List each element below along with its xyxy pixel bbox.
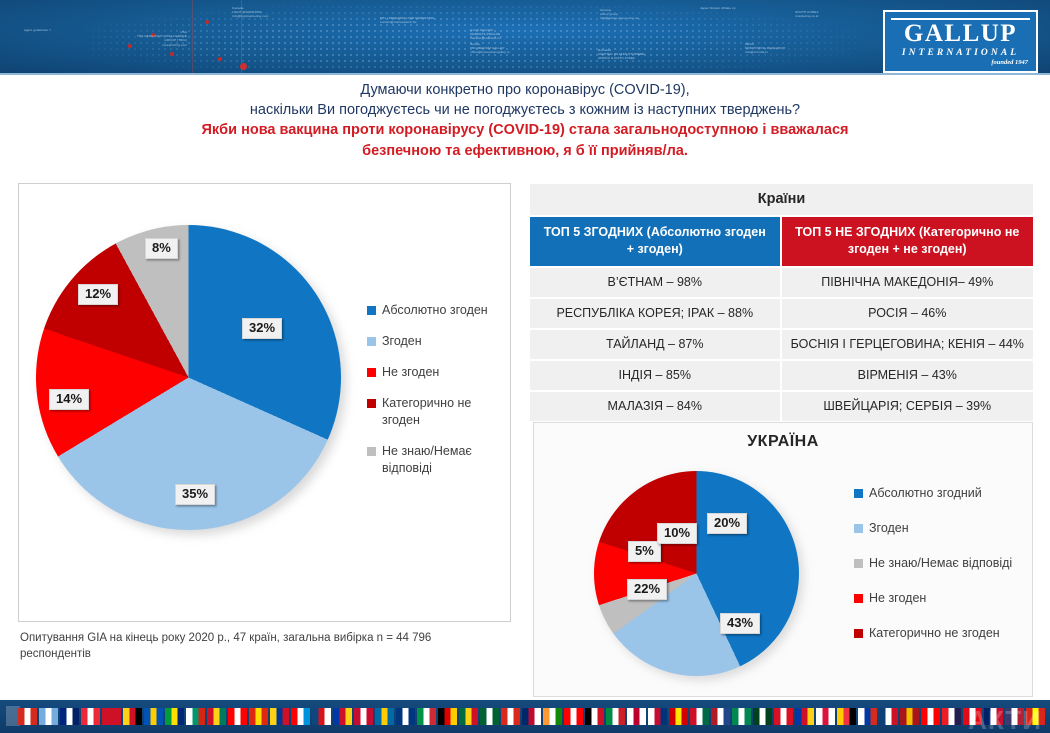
- table-header-agree: ТОП 5 ЗГОДНИХ (Абсолютно згоден + згоден…: [530, 217, 782, 266]
- flag-icon: [837, 708, 856, 725]
- table-cell: РОСІЯ – 46%: [782, 299, 1034, 328]
- table-cell: РЕСПУБЛІКА КОРЕЯ; ІРАК – 88%: [530, 299, 782, 328]
- ua-pie-label-disagree: 10%: [657, 523, 697, 544]
- legend-item[interactable]: Не знаю/Немає відповіді: [854, 555, 1024, 572]
- legend-item[interactable]: Абсолютно згоден: [367, 302, 502, 319]
- flag-icon: [18, 708, 37, 725]
- table-row: РЕСПУБЛІКА КОРЕЯ; ІРАК – 88%РОСІЯ – 46%: [530, 297, 1033, 328]
- ukraine-panel-title: УКРАЇНА: [534, 423, 1032, 451]
- table-cell: ШВЕЙЦАРІЯ; СЕРБІЯ – 39%: [782, 392, 1034, 421]
- flag-icon: [144, 708, 163, 725]
- flag-icon: [186, 708, 205, 725]
- pie-label-agree: 35%: [175, 484, 215, 505]
- legend-item[interactable]: Не згоден: [854, 590, 1024, 607]
- table-cell: БОСНІЯ І ГЕРЦЕГОВИНА; КЕНІЯ – 44%: [782, 330, 1034, 359]
- legend-item[interactable]: Категорично не згоден: [367, 395, 502, 429]
- flag-icon: [564, 708, 583, 725]
- legend-item[interactable]: Не згоден: [367, 364, 502, 381]
- banner-micro-label: Czech Republic MARKETS PRAGUE markets@ma…: [470, 28, 501, 41]
- legend-swatch-icon: [367, 306, 376, 315]
- flag-icon: [900, 708, 919, 725]
- table-row: ІНДІЯ – 85%ВІРМЕНІЯ – 43%: [530, 359, 1033, 390]
- legend-swatch-icon: [854, 489, 863, 498]
- logo-wordmark: GALLUP: [891, 21, 1030, 47]
- banner-micro-label: SOUTH KOREA rmarketing.co.kr: [795, 10, 819, 18]
- flag-icon: [669, 708, 688, 725]
- pie-label-strongly-disagree: 12%: [78, 284, 118, 305]
- legend-item[interactable]: Згоден: [367, 333, 502, 350]
- legend-item-label: Згоден: [382, 333, 422, 350]
- legend-item-label: Абсолютно згодний: [869, 485, 982, 502]
- flag-icon: [942, 708, 961, 725]
- flag-icon: [753, 708, 772, 725]
- legend-item[interactable]: Згоден: [854, 520, 1024, 537]
- flag-icon: [81, 708, 100, 725]
- flag-icon: [732, 708, 751, 725]
- flag-list: [18, 708, 1045, 725]
- flag-icon: [165, 708, 184, 725]
- watermark-text: АКТИ: [968, 705, 1042, 733]
- banner-marker-dot: [218, 57, 222, 61]
- flag-strip: АКТИ: [0, 700, 1050, 733]
- legend-item-label: Абсолютно згоден: [382, 302, 488, 319]
- global-chart-panel: 32% 35% 14% 12% 8% Абсолютно згоденЗгоде…: [18, 183, 511, 622]
- ua-pie-label-strongly-disagree: 20%: [707, 513, 747, 534]
- legend-item-label: Не згоден: [382, 364, 439, 381]
- pie-label-dont-know: 8%: [145, 238, 178, 259]
- banner-micro-label: Japan Nippon Afiliate cp: [700, 6, 736, 10]
- ukraine-chart-panel: УКРАЇНА 43% 22% 5% 10% 20% Абсолютно зго…: [533, 422, 1033, 697]
- logo-founded-text: founded 1947: [891, 59, 1030, 67]
- banner-micro-label: Canada LOGIT MARKETING info@logitmarketi…: [232, 6, 268, 19]
- banner-micro-label: USA THE RESEARCH INTELLIGENCE GROUP (TRi…: [137, 30, 187, 47]
- banner-marker-dot: [128, 44, 132, 48]
- table-cell: ТАЙЛАНД – 87%: [530, 330, 782, 359]
- flag-icon: [312, 708, 331, 725]
- table-row: В’ЄТНАМ – 98%ПІВНІЧНА МАКЕДОНІЯ– 49%: [530, 266, 1033, 297]
- legend-item-label: Не знаю/Немає відповіді: [382, 443, 502, 477]
- statement-line-2: безпечною та ефективною, я б її прийняв/…: [0, 141, 1050, 162]
- table-cell: МАЛАЗІЯ – 84%: [530, 392, 782, 421]
- flag-icon: [795, 708, 814, 725]
- logo-subtitle: INTERNATIONAL: [891, 48, 1030, 59]
- flag-icon: [921, 708, 940, 725]
- pie-label-absolutely-agree: 32%: [242, 318, 282, 339]
- flag-icon: [291, 708, 310, 725]
- gallup-international-logo: GALLUP INTERNATIONAL founded 1947: [883, 10, 1038, 73]
- banner-micro-label: agent guidelines 7: [24, 28, 51, 32]
- flag-icon: [354, 708, 373, 725]
- flag-icon: [207, 708, 226, 725]
- global-pie-wrap: 32% 35% 14% 12% 8%: [33, 212, 353, 552]
- flag-icon: [606, 708, 625, 725]
- legend-swatch-icon: [367, 447, 376, 456]
- legend-item[interactable]: Категорично не згоден: [854, 625, 1024, 642]
- banner-guide-line-1: [192, 0, 193, 75]
- flag-icon: [690, 708, 709, 725]
- flag-icon: [270, 708, 289, 725]
- table-cell: ВІРМЕНІЯ – 43%: [782, 361, 1034, 390]
- table-title: Країни: [530, 184, 1033, 217]
- legend-item-label: Не згоден: [869, 590, 926, 607]
- legend-swatch-icon: [367, 399, 376, 408]
- table-cell: В’ЄТНАМ – 98%: [530, 268, 782, 297]
- global-pie-legend: Абсолютно згоденЗгоденНе згоденКатегорич…: [367, 302, 502, 491]
- ua-pie-label-agree: 22%: [627, 579, 667, 600]
- flag-icon: [648, 708, 667, 725]
- survey-footnote: Опитування GIA на кінець року 2020 р., 4…: [20, 630, 490, 662]
- ua-pie-label-dont-know: 5%: [628, 541, 661, 562]
- flag-icon: [522, 708, 541, 725]
- legend-item-label: Згоден: [869, 520, 909, 537]
- flag-icon: [417, 708, 436, 725]
- legend-item-label: Категорично не згоден: [382, 395, 502, 429]
- banner-micro-label: Serbia TNC MEDIUM GALLUP office@tnsmediu…: [470, 42, 510, 55]
- flag-icon: [774, 708, 793, 725]
- legend-item-label: Не знаю/Немає відповіді: [869, 555, 1012, 572]
- flag-icon: [123, 708, 142, 725]
- legend-swatch-icon: [854, 559, 863, 568]
- flag-icon: [102, 708, 121, 725]
- flag-icon: [816, 708, 835, 725]
- banner-micro-label: Romania CENTRAL PILATES STUDIERE AFRIKO …: [598, 48, 645, 61]
- flag-icon: [396, 708, 415, 725]
- legend-swatch-icon: [854, 594, 863, 603]
- table-header-disagree: ТОП 5 НЕ ЗГОДНИХ (Категорично не згоден …: [782, 217, 1034, 266]
- question-line-2: наскільки Ви погоджуєтесь чи не погоджує…: [0, 100, 1050, 120]
- flag-icon: [543, 708, 562, 725]
- flag-icon: [627, 708, 646, 725]
- flag-icon: [501, 708, 520, 725]
- flag-icon: [438, 708, 457, 725]
- legend-item[interactable]: Абсолютно згодний: [854, 485, 1024, 502]
- legend-swatch-icon: [367, 368, 376, 377]
- flag-icon: [228, 708, 247, 725]
- flag-icon: [375, 708, 394, 725]
- flag-icon: [333, 708, 352, 725]
- table-cell: ІНДІЯ – 85%: [530, 361, 782, 390]
- ua-pie-label-absolutely-agree: 43%: [720, 613, 760, 634]
- table-cell: ПІВНІЧНА МАКЕДОНІЯ– 49%: [782, 268, 1034, 297]
- banner-marker-dot: [240, 63, 247, 70]
- ukraine-pie-legend: Абсолютно згоднийЗгоденНе знаю/Немає від…: [854, 485, 1024, 660]
- legend-swatch-icon: [854, 524, 863, 533]
- table-row: МАЛАЗІЯ – 84%ШВЕЙЦАРІЯ; СЕРБІЯ – 39%: [530, 390, 1033, 421]
- banner-micro-label: INDIA MONITORING RESEARCH info@mrindia.i…: [745, 42, 785, 55]
- table-header-row: ТОП 5 ЗГОДНИХ (Абсолютно згоден + згоден…: [530, 217, 1033, 266]
- flag-icon: [858, 708, 877, 725]
- legend-item-label: Категорично не згоден: [869, 625, 1000, 642]
- banner-bottom-rule: [0, 73, 1050, 75]
- ukraine-pie-chart: [594, 471, 799, 676]
- pie-label-disagree: 14%: [49, 389, 89, 410]
- flag-icon: [879, 708, 898, 725]
- countries-table: Країни ТОП 5 ЗГОДНИХ (Абсолютно згоден +…: [530, 184, 1033, 421]
- ukraine-pie-wrap: 43% 22% 5% 10% 20%: [592, 465, 812, 685]
- legend-swatch-icon: [367, 337, 376, 346]
- flag-icon: [459, 708, 478, 725]
- banner-micro-label: Ukraine active group info@active-group.c…: [600, 8, 639, 21]
- flag-icon: [249, 708, 268, 725]
- banner-marker-dot: [170, 52, 174, 56]
- flag-icon: [480, 708, 499, 725]
- flag-icon: [60, 708, 79, 725]
- banner-micro-label: MSI | RESEARCH AND MARKETING contact@msi…: [380, 16, 435, 24]
- legend-item[interactable]: Не знаю/Немає відповіді: [367, 443, 502, 477]
- table-row: ТАЙЛАНД – 87%БОСНІЯ І ГЕРЦЕГОВИНА; КЕНІЯ…: [530, 328, 1033, 359]
- legend-swatch-icon: [854, 629, 863, 638]
- banner-marker-dot: [205, 20, 209, 24]
- statement-line-1: Якби нова вакцина проти коронавірусу (CO…: [0, 120, 1050, 141]
- flag-icon: [39, 708, 58, 725]
- flag-icon: [711, 708, 730, 725]
- slide-title-block: Думаючи конкретно про коронавірус (COVID…: [0, 80, 1050, 161]
- question-line-1: Думаючи конкретно про коронавірус (COVID…: [0, 80, 1050, 100]
- flag-icon: [585, 708, 604, 725]
